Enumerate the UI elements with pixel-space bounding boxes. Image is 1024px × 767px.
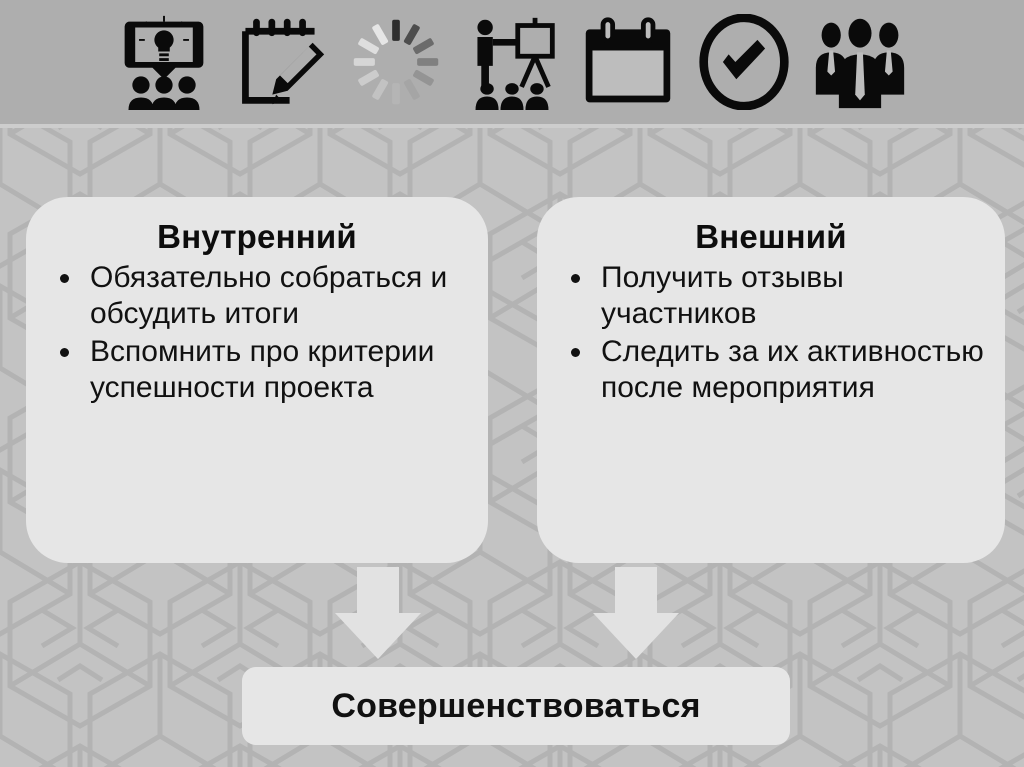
top-icon-row — [0, 0, 1024, 124]
card-external-list: Получить отзывы участников Следить за их… — [537, 256, 1005, 406]
notepad-pencil-icon — [232, 14, 328, 110]
arrow-down-left-icon — [332, 567, 424, 659]
list-item: Вспомнить про критерии успешности проект… — [42, 334, 474, 406]
bullet-icon — [60, 274, 69, 283]
bullet-icon — [60, 348, 69, 357]
bullet-icon — [571, 348, 580, 357]
list-item: Получить отзывы участников — [553, 260, 991, 332]
card-internal: Внутренний Обязательно собраться и обсуд… — [26, 197, 488, 563]
presenter-flipchart-icon — [464, 14, 560, 110]
top-icon-band — [0, 0, 1024, 128]
bullet-icon — [571, 274, 580, 283]
arrow-down-right-icon — [590, 567, 682, 659]
result-box: Совершенствоваться — [242, 667, 790, 745]
team-people-icon — [812, 14, 908, 110]
list-item-text: Обязательно собраться и обсудить итоги — [90, 261, 447, 330]
result-label: Совершенствоваться — [331, 687, 700, 726]
check-circle-icon — [696, 14, 792, 110]
card-external-title: Внешний — [537, 197, 1005, 256]
card-internal-title: Внутренний — [26, 197, 488, 256]
list-item: Обязательно собраться и обсудить итоги — [42, 260, 474, 332]
card-internal-list: Обязательно собраться и обсудить итоги В… — [26, 256, 488, 406]
list-item: Следить за их активностью после мероприя… — [553, 334, 991, 406]
list-item-text: Вспомнить про критерии успешности проект… — [90, 335, 434, 404]
calendar-icon — [580, 14, 676, 110]
list-item-text: Получить отзывы участников — [601, 261, 844, 330]
loading-spinner-icon — [348, 14, 444, 110]
list-item-text: Следить за их активностью после мероприя… — [601, 335, 984, 404]
brainstorm-presentation-icon — [116, 14, 212, 110]
slide-canvas: Внутренний Обязательно собраться и обсуд… — [0, 0, 1024, 767]
card-external: Внешний Получить отзывы участников Следи… — [537, 197, 1005, 563]
